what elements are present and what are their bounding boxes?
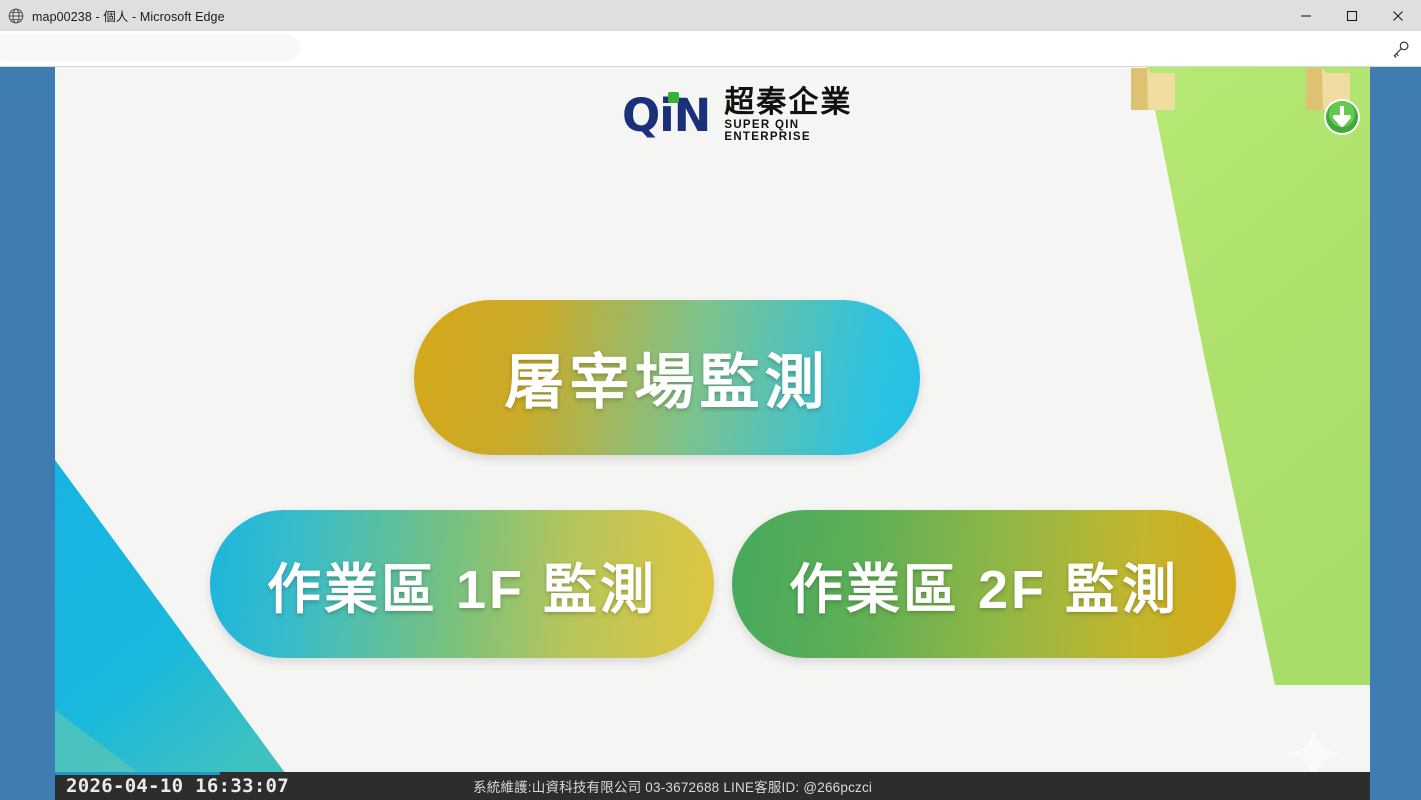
folder-icon[interactable]	[1125, 60, 1181, 116]
work-area-2f-monitoring-button[interactable]: 作業區 2F 監測	[732, 510, 1236, 658]
globe-icon	[7, 7, 24, 24]
work-area-1f-monitoring-button[interactable]: 作業區 1F 監測	[210, 510, 714, 658]
download-arrow-badge-icon	[1323, 98, 1361, 136]
slaughterhouse-monitoring-button[interactable]: 屠宰場監測	[414, 300, 920, 455]
company-logo: QiN 超秦企業 SUPER QIN ENTERPRISE	[622, 87, 884, 143]
logo-chinese-name: 超秦企業	[724, 87, 884, 119]
key-icon[interactable]	[1385, 35, 1415, 63]
logo-wordmark: QiN	[622, 93, 710, 138]
minimize-button[interactable]	[1283, 0, 1329, 31]
maximize-button[interactable]	[1329, 0, 1375, 31]
window-titlebar: map00238 - 個人 - Microsoft Edge	[0, 0, 1421, 31]
web-page-viewport: QiN 超秦企業 SUPER QIN ENTERPRISE 屠宰場監測 作業區 …	[55, 60, 1370, 800]
browser-window: map00238 - 個人 - Microsoft Edge	[0, 0, 1421, 66]
logo-english-name: SUPER QIN ENTERPRISE	[724, 119, 884, 143]
browser-toolbar	[0, 31, 1421, 67]
close-button[interactable]	[1375, 0, 1421, 31]
timestamp-display: 2026-04-10 16:33:07	[66, 775, 289, 797]
logo-text-block: 超秦企業 SUPER QIN ENTERPRISE	[724, 87, 884, 144]
address-bar[interactable]	[0, 34, 300, 61]
footer-progress-indicator	[55, 772, 220, 775]
window-title: map00238 - 個人 - Microsoft Edge	[32, 6, 225, 25]
maintenance-contact-text: 系統維護:山資科技有限公司 03-3672688 LINE客服ID: @266p…	[473, 776, 872, 796]
logo-green-dot-icon	[668, 92, 679, 103]
footer-status-bar: 2026-04-10 16:33:07 系統維護:山資科技有限公司 03-367…	[55, 772, 1370, 800]
